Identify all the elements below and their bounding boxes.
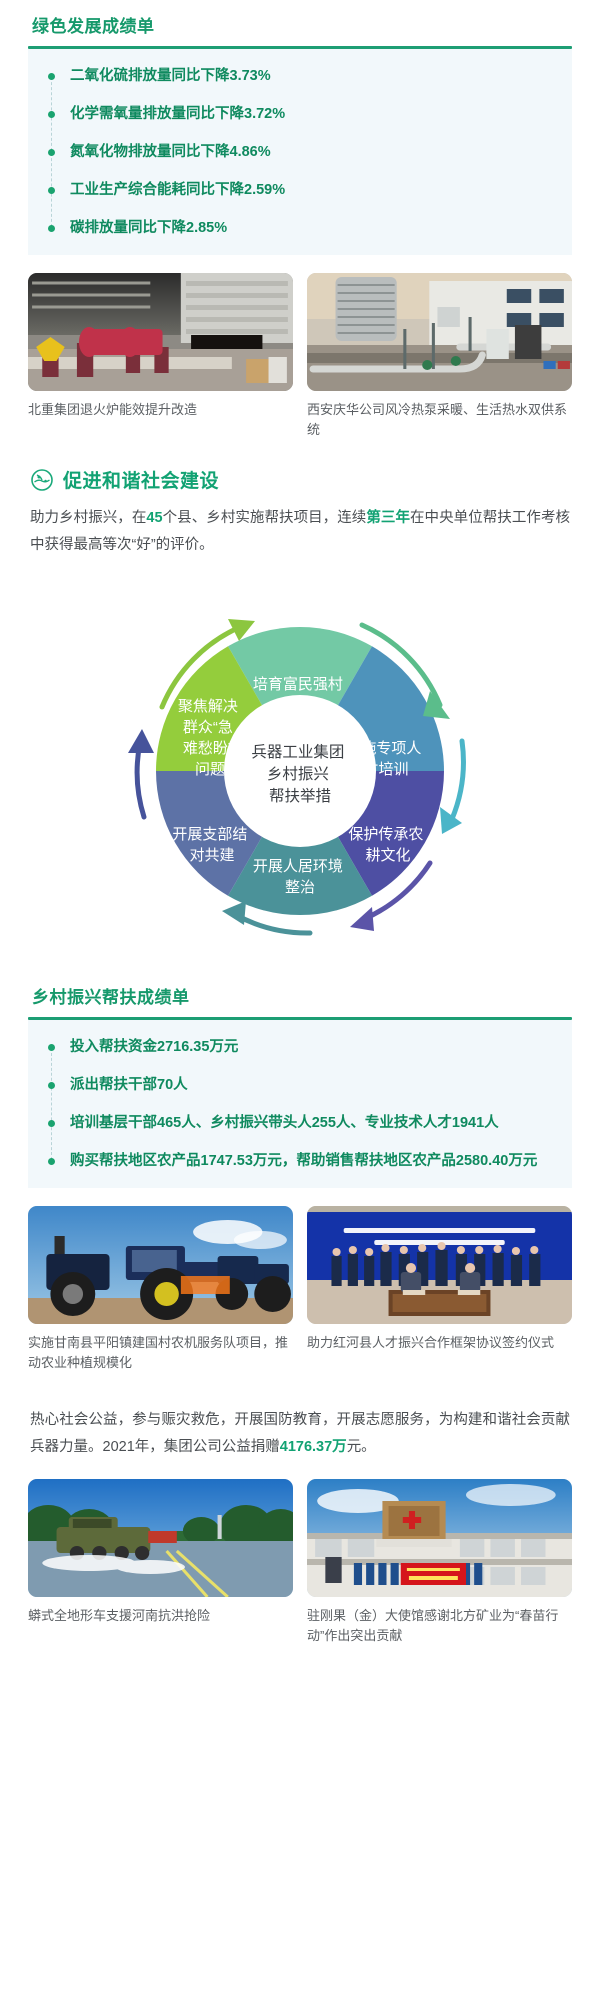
spacer — [28, 1373, 572, 1395]
photo-cell: 西安庆华公司风冷热泵采暖、生活热水双供系统 — [307, 273, 572, 440]
photo-caption: 驻刚果（金）大使馆感谢北方矿业为“春苗行动”作出突出贡献 — [307, 1606, 572, 1646]
rural-revitalization-donut-chart: 培育富民强村 产业 实施专项人 才培训 保护传承农 耕文化 开展人居环境 整治 … — [28, 571, 572, 971]
arrow-bottom-left-head — [222, 901, 246, 925]
amphibious-vehicle-flood-photo — [28, 1479, 293, 1597]
society-section-heading: 促进和谐社会建设 — [28, 466, 572, 493]
rural-scorecard-list: 投入帮扶资金2716.35万元 派出帮扶干部70人 培训基层干部465人、乡村振… — [42, 1036, 554, 1172]
arrow-right-head — [440, 807, 462, 834]
photo-caption: 助力红河县人才振兴合作框架协议签约仪式 — [307, 1333, 572, 1353]
photo-cell: 北重集团退火炉能效提升改造 — [28, 273, 293, 440]
list-item: 二氧化硫排放量同比下降3.73% — [42, 65, 554, 87]
arrow-bottom-left — [236, 915, 310, 933]
air-source-heat-pump-photo — [307, 273, 572, 391]
photo-cell: 蟒式全地形车支援河南抗洪抢险 — [28, 1479, 293, 1646]
green-scorecard-title: 绿色发展成绩单 — [28, 14, 572, 40]
tractors-photo — [28, 1206, 293, 1324]
rural-scorecard-title: 乡村振兴帮扶成绩单 — [28, 985, 572, 1011]
rural-revitalization-scorecard: 乡村振兴帮扶成绩单 投入帮扶资金2716.35万元 派出帮扶干部70人 培训基层… — [28, 985, 572, 1188]
highlight-45: 45 — [146, 510, 162, 526]
green-development-scorecard: 绿色发展成绩单 二氧化硫排放量同比下降3.73% 化学需氧量排放量同比下降3.7… — [28, 14, 572, 255]
list-item: 碳排放量同比下降2.85% — [42, 217, 554, 239]
photo-caption: 西安庆华公司风冷热泵采暖、生活热水双供系统 — [307, 400, 572, 440]
arrow-right — [452, 741, 463, 819]
arrow-left — [137, 743, 144, 817]
green-scorecard-body: 二氧化硫排放量同比下降3.73% 化学需氧量排放量同比下降3.72% 氮氧化物排… — [28, 49, 572, 255]
donut-svg: 培育富民强村 产业 实施专项人 才培训 保护传承农 耕文化 开展人居环境 整治 … — [100, 571, 500, 971]
arrow-bottom-right-head — [350, 907, 374, 931]
page-root: 绿色发展成绩单 二氧化硫排放量同比下降3.73% 化学需氧量排放量同比下降3.7… — [0, 14, 600, 1646]
arrow-left-head — [128, 729, 154, 753]
list-item: 购买帮扶地区农产品1747.53万元，帮助销售帮扶地区农产品2580.40万元 — [42, 1150, 554, 1172]
text-run: 个县、乡村实施帮扶项目，连续 — [163, 510, 367, 526]
photo-cell: 实施甘南县平阳镇建国村农机服务队项目，推动农业种植规模化 — [28, 1206, 293, 1373]
signing-ceremony-photo — [307, 1206, 572, 1324]
highlight-third-year: 第三年 — [366, 510, 410, 526]
globe-handshake-icon — [30, 468, 54, 492]
welfare-photo-pair: 蟒式全地形车支援河南抗洪抢险 — [28, 1479, 572, 1646]
photo-cell: 驻刚果（金）大使馆感谢北方矿业为“春苗行动”作出突出贡献 — [307, 1479, 572, 1646]
text-run: 元。 — [347, 1439, 376, 1455]
list-item: 化学需氧量排放量同比下降3.72% — [42, 103, 554, 125]
annealing-furnace-photo — [28, 273, 293, 391]
text-run: 助力乡村振兴，在 — [30, 510, 146, 526]
vaccination-site-photo — [307, 1479, 572, 1597]
list-item: 氮氧化物排放量同比下降4.86% — [42, 141, 554, 163]
society-section-title: 促进和谐社会建设 — [63, 466, 219, 493]
list-item: 工业生产综合能耗同比下降2.59% — [42, 179, 554, 201]
list-item: 派出帮扶干部70人 — [42, 1074, 554, 1096]
photo-caption: 实施甘南县平阳镇建国村农机服务队项目，推动农业种植规模化 — [28, 1333, 293, 1373]
photo-cell: 助力红河县人才振兴合作框架协议签约仪式 — [307, 1206, 572, 1373]
society-intro-paragraph: 助力乡村振兴，在45个县、乡村实施帮扶项目，连续第三年在中央单位帮扶工作考核中获… — [28, 505, 572, 559]
green-photo-pair: 北重集团退火炉能效提升改造 — [28, 273, 572, 440]
list-item: 培训基层干部465人、乡村振兴带头人255人、专业技术人才1941人 — [42, 1112, 554, 1134]
welfare-paragraph: 热心社会公益，参与赈灾救危，开展国防教育，开展志愿服务，为构建和谐社会贡献兵器力… — [28, 1407, 572, 1461]
photo-caption: 蟒式全地形车支援河南抗洪抢险 — [28, 1606, 293, 1626]
list-item: 投入帮扶资金2716.35万元 — [42, 1036, 554, 1058]
rural-photo-pair: 实施甘南县平阳镇建国村农机服务队项目，推动农业种植规模化 — [28, 1206, 572, 1373]
rural-scorecard-body: 投入帮扶资金2716.35万元 派出帮扶干部70人 培训基层干部465人、乡村振… — [28, 1020, 572, 1188]
photo-caption: 北重集团退火炉能效提升改造 — [28, 400, 293, 420]
highlight-donation-amount: 4176.37万 — [280, 1439, 347, 1455]
green-scorecard-list: 二氧化硫排放量同比下降3.73% 化学需氧量排放量同比下降3.72% 氮氧化物排… — [42, 65, 554, 239]
